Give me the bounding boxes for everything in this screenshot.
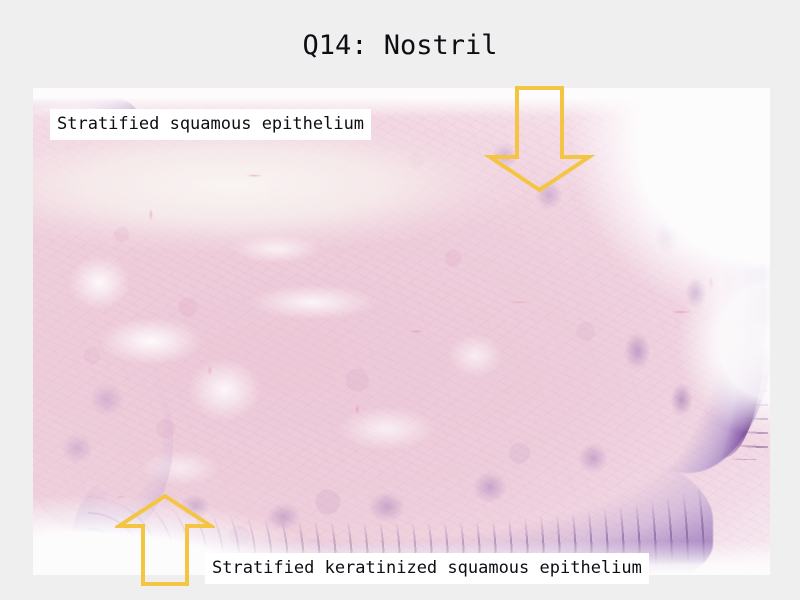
arrow-down-icon [484,84,596,194]
label-stratified-squamous-epithelium: Stratified squamous epithelium [50,109,371,140]
page-title: Q14: Nostril [0,30,800,61]
arrow-up-icon [115,492,215,588]
label-stratified-keratinized-squamous-epithelium: Stratified keratinized squamous epitheli… [205,553,649,584]
arrow-down-outline [490,88,589,190]
slide-canvas: Q14: Nostril Stratified squamous epithel… [0,0,800,600]
arrow-up-outline [119,496,211,584]
